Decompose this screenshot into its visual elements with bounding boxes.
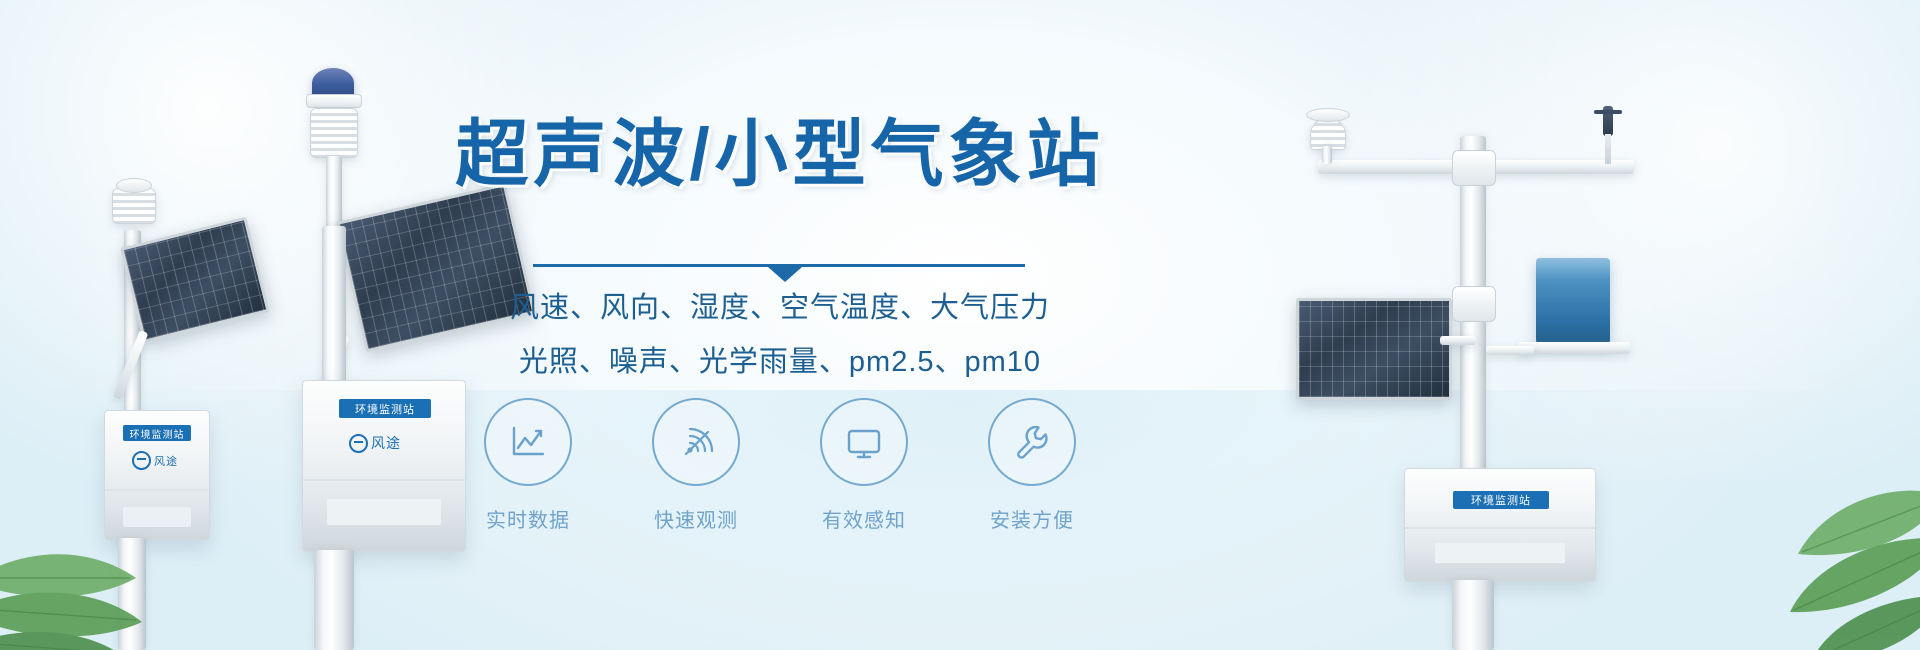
signal-wave-icon: [652, 398, 740, 486]
mast-base: [1452, 580, 1494, 650]
brand-logo: 风途: [349, 433, 401, 453]
monitor-icon: [820, 398, 908, 486]
station-right-cross: 环境监测站: [1300, 50, 1720, 650]
feature-label: 有效感知: [802, 504, 926, 533]
sensor-shelf: [1518, 342, 1630, 354]
cabinet-tag: 环境监测站: [339, 399, 431, 418]
cabinet-seam: [1405, 527, 1595, 529]
leaf-decoration-left: [0, 450, 200, 650]
rain-gauge: [1536, 258, 1610, 344]
cabinet-tag: 环境监测站: [1453, 491, 1549, 509]
feature-item-fast-observation[interactable]: 快速观测: [634, 398, 758, 533]
anemometer-top-plate: [1306, 108, 1350, 122]
divider-triangle-icon: [768, 267, 802, 282]
shelf-bracket: [1486, 346, 1534, 355]
banner-subtitle-line-2: 光照、噪声、光学雨量、pm2.5、pm10: [430, 338, 1130, 380]
mast-collar: [1452, 286, 1496, 322]
feature-item-realtime-data[interactable]: 实时数据: [466, 398, 590, 533]
shield-cap: [116, 178, 152, 193]
product-banner: 环境监测站 风途 环境监测站 风途: [0, 0, 1920, 650]
feature-label: 快速观测: [634, 504, 758, 533]
banner-subtitle-line-1: 风速、风向、湿度、空气温度、大气压力: [430, 284, 1130, 326]
title-divider: [430, 258, 1130, 280]
brand-name: 风途: [371, 433, 401, 453]
upper-mast: [326, 156, 342, 230]
radiation-shield: [112, 188, 156, 224]
sensor-top-plate: [306, 94, 362, 108]
mast-base: [314, 550, 354, 650]
cabinet-tag: 环境监测站: [123, 425, 191, 441]
line-chart-icon: [484, 398, 572, 486]
panel-bracket: [1440, 336, 1476, 345]
control-cabinet: 环境监测站: [1404, 468, 1596, 582]
wind-vane-sensor: [1590, 106, 1626, 164]
cabinet-vent: [1435, 543, 1565, 563]
anemometer-stem: [1322, 146, 1332, 164]
radiation-shield: [310, 108, 358, 158]
feature-item-easy-install[interactable]: 安装方便: [970, 398, 1094, 533]
feature-label: 实时数据: [466, 504, 590, 533]
arm-hub-joint: [1452, 150, 1496, 186]
feature-list: 实时数据 快速观测: [430, 398, 1130, 533]
leaf-decoration-right: [1680, 420, 1920, 650]
banner-text-block: 超声波/小型气象站 风速、风向、湿度、空气温度、大气压力 光照、噪声、光学雨量、…: [430, 0, 1130, 650]
solar-panel: [120, 217, 270, 344]
feature-label: 安装方便: [970, 504, 1094, 533]
brand-mark-icon: [349, 434, 368, 453]
banner-title: 超声波/小型气象站: [430, 118, 1130, 191]
feature-item-effective-sensing[interactable]: 有效感知: [802, 398, 926, 533]
cabinet-vent: [327, 499, 441, 525]
wrench-icon: [988, 398, 1076, 486]
solar-panel: [1296, 298, 1452, 400]
